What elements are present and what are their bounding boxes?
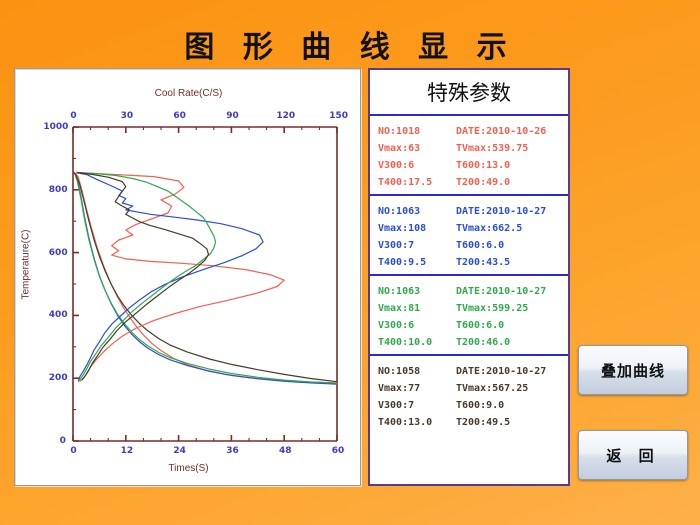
param-tvmax: TVmax:599.25 <box>456 300 568 317</box>
params-panel-title: 特殊参数 <box>370 70 568 116</box>
param-no: NO:1018 <box>378 123 456 140</box>
param-v300: V300:7 <box>378 397 456 414</box>
param-v300: V300:7 <box>378 237 456 254</box>
param-row: T400:10.0T200:46.0 <box>378 334 568 351</box>
special-parameters-panel: 特殊参数 NO:1018DATE:2010-10-26Vmax:63TVmax:… <box>368 68 570 486</box>
param-tvmax: TVmax:662.5 <box>456 220 568 237</box>
param-t200: T200:49.0 <box>456 174 568 191</box>
param-t600: T600:6.0 <box>456 237 568 254</box>
param-block-3: NO:1063DATE:2010-10-27Vmax:81TVmax:599.2… <box>370 276 568 356</box>
series-coolrate-1063a <box>77 173 216 383</box>
series-cooling-1063b <box>74 173 337 385</box>
param-row: V300:7T600:6.0 <box>378 237 568 254</box>
param-date: DATE:2010-10-27 <box>456 363 568 380</box>
param-no: NO:1063 <box>378 203 456 220</box>
param-row: T400:13.0T200:49.5 <box>378 414 568 431</box>
param-v300: V300:6 <box>378 317 456 334</box>
param-row: V300:6T600:6.0 <box>378 317 568 334</box>
page-title: 图 形 曲 线 显 示 <box>0 22 700 66</box>
param-date: DATE:2010-10-27 <box>456 283 568 300</box>
param-row: Vmax:81TVmax:599.25 <box>378 300 568 317</box>
param-row: Vmax:77TVmax:567.25 <box>378 380 568 397</box>
param-date: DATE:2010-10-26 <box>456 123 568 140</box>
param-no: NO:1063 <box>378 283 456 300</box>
plot-area: Cool Rate(C/S) Times(S) Temperature(C) 0… <box>15 69 360 485</box>
param-t400: T400:10.0 <box>378 334 456 351</box>
series-coolrate-1063b <box>77 173 264 381</box>
series-cooling-1018 <box>74 173 337 383</box>
param-tvmax: TVmax:539.75 <box>456 140 568 157</box>
param-t600: T600:9.0 <box>456 397 568 414</box>
param-row: NO:1018DATE:2010-10-26 <box>378 123 568 140</box>
param-row: T400:9.5T200:43.5 <box>378 254 568 271</box>
param-row: T400:17.5T200:49.0 <box>378 174 568 191</box>
param-t400: T400:9.5 <box>378 254 456 271</box>
param-row: NO:1058DATE:2010-10-27 <box>378 363 568 380</box>
back-button[interactable]: 返 回 <box>578 430 688 480</box>
series-cooling-1058 <box>74 173 337 382</box>
param-t600: T600:13.0 <box>456 157 568 174</box>
param-date: DATE:2010-10-27 <box>456 203 568 220</box>
param-row: V300:7T600:9.0 <box>378 397 568 414</box>
curve-plot <box>15 69 362 487</box>
param-t600: T600:6.0 <box>456 317 568 334</box>
param-block-4: NO:1058DATE:2010-10-27Vmax:77TVmax:567.2… <box>370 356 568 436</box>
param-tvmax: TVmax:567.25 <box>456 380 568 397</box>
param-row: Vmax:108TVmax:662.5 <box>378 220 568 237</box>
param-v300: V300:6 <box>378 157 456 174</box>
param-vmax: Vmax:77 <box>378 380 456 397</box>
param-block-2: NO:1063DATE:2010-10-27Vmax:108TVmax:662.… <box>370 196 568 276</box>
param-t200: T200:43.5 <box>456 254 568 271</box>
series-coolrate-1058 <box>77 173 209 381</box>
chart-panel: Cool Rate(C/S) Times(S) Temperature(C) 0… <box>14 68 361 486</box>
app-window: 图 形 曲 线 显 示 Cool Rate(C/S) Times(S) Temp… <box>0 0 700 525</box>
series-cooling-1063a <box>74 173 337 384</box>
param-no: NO:1058 <box>378 363 456 380</box>
overlay-curves-button[interactable]: 叠加曲线 <box>578 345 688 395</box>
param-t400: T400:17.5 <box>378 174 456 191</box>
param-vmax: Vmax:81 <box>378 300 456 317</box>
param-row: NO:1063DATE:2010-10-27 <box>378 283 568 300</box>
param-t400: T400:13.0 <box>378 414 456 431</box>
param-vmax: Vmax:108 <box>378 220 456 237</box>
param-t200: T200:49.5 <box>456 414 568 431</box>
param-row: NO:1063DATE:2010-10-27 <box>378 203 568 220</box>
param-vmax: Vmax:63 <box>378 140 456 157</box>
param-row: Vmax:63TVmax:539.75 <box>378 140 568 157</box>
param-block-1: NO:1018DATE:2010-10-26Vmax:63TVmax:539.7… <box>370 116 568 196</box>
params-block-list: NO:1018DATE:2010-10-26Vmax:63TVmax:539.7… <box>370 116 568 436</box>
param-row: V300:6T600:13.0 <box>378 157 568 174</box>
param-t200: T200:46.0 <box>456 334 568 351</box>
